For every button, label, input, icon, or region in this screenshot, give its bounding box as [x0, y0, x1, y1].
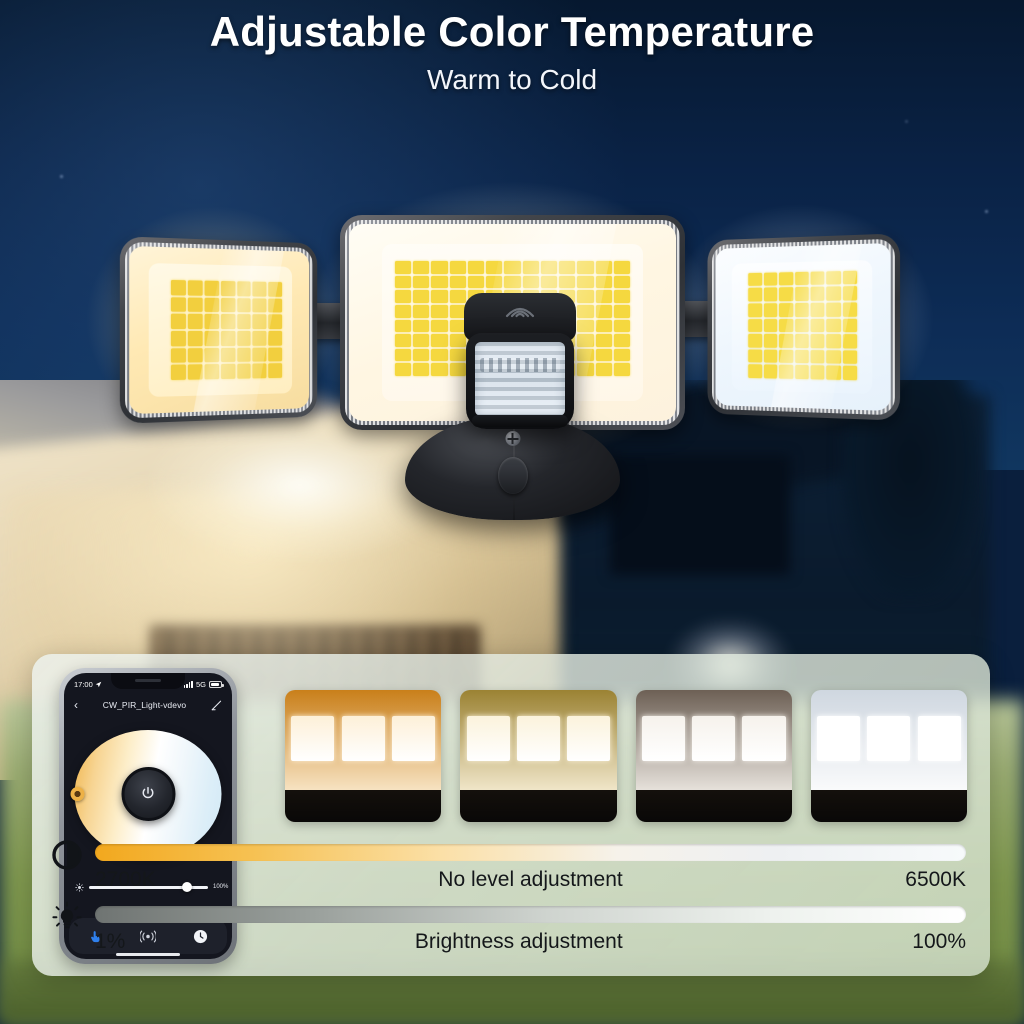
battery-icon [209, 681, 222, 688]
motion-wave-icon [503, 299, 537, 319]
led-chip [749, 364, 762, 378]
led-chip [596, 290, 612, 303]
location-arrow-icon [95, 681, 102, 688]
led-chip [171, 280, 186, 295]
led-chip [431, 334, 447, 347]
swatch-fixture-silhouette [460, 790, 616, 822]
temp-max-label: 6500K [905, 868, 966, 892]
led-chip [577, 349, 593, 362]
led-chip [779, 365, 793, 379]
led-array-left [171, 280, 282, 379]
led-head-left [120, 236, 317, 424]
led-chip [749, 349, 762, 362]
led-chip [811, 303, 825, 317]
led-chip [795, 334, 809, 348]
led-chip [827, 303, 841, 317]
led-chip [764, 365, 778, 379]
led-chip [268, 331, 282, 345]
network-label: 5G [196, 680, 206, 689]
led-chip [171, 297, 186, 312]
led-chip [204, 348, 218, 363]
led-chip [413, 349, 429, 362]
led-chip [237, 315, 251, 329]
led-chip [221, 331, 235, 346]
led-chip [413, 320, 429, 333]
led-array-right [749, 271, 858, 380]
app-demo-panel: 17:00 5G ‹ CW_PIR_Lig [32, 654, 990, 976]
led-chip [413, 276, 429, 289]
color-temperature-labels: 2700K No level adjustment 6500K [95, 866, 966, 894]
led-chip [827, 350, 841, 364]
device-name-title: CW_PIR_Light-vdevo [103, 700, 187, 710]
led-chip [413, 363, 429, 376]
swatch-led-strip [817, 716, 961, 761]
swatch-fixture-silhouette [811, 790, 967, 822]
led-chip [221, 281, 235, 296]
led-chip [811, 365, 825, 379]
led-chip [749, 288, 762, 301]
led-chip [431, 320, 447, 333]
led-chip [596, 334, 612, 347]
led-chip [559, 261, 575, 274]
led-chip [413, 305, 429, 318]
led-chip [749, 334, 762, 347]
led-chip [764, 303, 778, 316]
led-chip [541, 261, 557, 274]
led-chip [827, 318, 841, 332]
head-face [129, 246, 309, 414]
signal-bars-icon [184, 681, 193, 688]
led-chip [253, 363, 267, 378]
led-chip [268, 363, 282, 377]
led-chip [614, 290, 630, 303]
led-chip [268, 299, 282, 313]
led-chip [779, 349, 793, 363]
star [985, 210, 988, 213]
led-chip [614, 305, 630, 318]
led-chip [171, 331, 186, 346]
led-chip [596, 363, 612, 376]
led-chip [614, 320, 630, 333]
led-chip [395, 290, 411, 303]
led-chip [253, 347, 267, 361]
led-chip [188, 348, 203, 363]
housing-button[interactable] [498, 457, 528, 494]
star [60, 175, 63, 178]
back-button[interactable]: ‹ [74, 699, 78, 711]
led-chip [779, 303, 793, 317]
led-head-right [708, 233, 901, 420]
contrast-icon [50, 838, 84, 872]
led-chip [395, 363, 411, 376]
status-time: 17:00 [74, 680, 93, 689]
swatch-thumbnail [811, 690, 967, 822]
head-face [716, 243, 891, 411]
led-chip [268, 282, 282, 296]
led-chip [221, 364, 235, 379]
led-chip [221, 314, 235, 329]
led-chip [843, 302, 857, 316]
led-chip [253, 315, 267, 329]
power-icon [140, 785, 157, 802]
led-chip [811, 350, 825, 364]
led-chip [827, 366, 841, 380]
led-chip [779, 334, 793, 348]
page-subtitle: Warm to Cold [0, 64, 1024, 96]
led-chip [843, 366, 857, 380]
led-chip [764, 319, 778, 332]
led-chip [468, 261, 484, 274]
led-chip [523, 276, 539, 289]
led-chip [413, 290, 429, 303]
led-chip [237, 347, 251, 362]
led-chip [596, 305, 612, 318]
led-chip [843, 350, 857, 364]
led-chip [577, 334, 593, 347]
led-chip [843, 287, 857, 301]
led-chip [614, 349, 630, 362]
led-chip [237, 331, 251, 345]
led-chip [795, 272, 809, 286]
led-chip [764, 288, 778, 302]
app-navbar: ‹ CW_PIR_Light-vdevo [64, 695, 232, 715]
led-chip [577, 363, 593, 376]
led-chip [188, 364, 203, 379]
power-button[interactable] [121, 767, 175, 821]
led-chip [577, 276, 593, 289]
led-chip [577, 305, 593, 318]
led-chip [395, 261, 411, 274]
led-chip [764, 272, 778, 286]
color-temperature-slider-row: 2700K No level adjustment 6500K [50, 836, 972, 898]
led-chip [431, 363, 447, 376]
led-chip [468, 276, 484, 289]
led-chip [504, 276, 520, 289]
swatch-fixture-silhouette [636, 790, 792, 822]
swatch-fixture-silhouette [285, 790, 441, 822]
led-chip [811, 334, 825, 348]
brightness-slider-row: 1% Brightness adjustment 100% [50, 898, 972, 960]
star [905, 120, 908, 123]
led-chip [450, 363, 466, 376]
status-bar: 17:00 5G [64, 677, 232, 691]
led-chip [171, 348, 186, 363]
led-chip [795, 319, 809, 333]
led-chip [450, 334, 466, 347]
led-chip [431, 276, 447, 289]
fixture-housing [405, 415, 620, 520]
led-chip [395, 320, 411, 333]
pir-motion-sensor [466, 333, 574, 429]
swatch-led-strip [642, 716, 786, 761]
led-chip [779, 288, 793, 302]
led-chip [237, 282, 251, 297]
led-chip [779, 319, 793, 333]
led-chip [221, 298, 235, 313]
swatch-thumbnail [285, 690, 441, 822]
led-chip [827, 271, 841, 285]
led-chip [450, 290, 466, 303]
led-chip [596, 261, 612, 274]
led-chip [188, 281, 203, 296]
led-chip [504, 261, 520, 274]
led-chip [843, 318, 857, 332]
led-chip [431, 349, 447, 362]
led-chip [795, 287, 809, 301]
led-chip [431, 261, 447, 274]
swatch-led-strip [291, 716, 435, 761]
led-chip [413, 261, 429, 274]
led-chip [843, 271, 857, 285]
led-chip [204, 314, 218, 329]
led-chip [253, 298, 267, 312]
led-chip [171, 365, 186, 380]
led-chip [395, 276, 411, 289]
led-chip [431, 290, 447, 303]
led-chip [204, 298, 218, 313]
led-chip [596, 349, 612, 362]
led-chip [253, 282, 267, 297]
led-chip [413, 334, 429, 347]
led-chip [450, 276, 466, 289]
led-chip [268, 347, 282, 361]
led-chip [764, 334, 778, 347]
led-chip [486, 261, 502, 274]
led-chip [795, 350, 809, 364]
led-chip [450, 349, 466, 362]
led-chip [486, 276, 502, 289]
led-chip [596, 320, 612, 333]
product-marketing-image: Adjustable Color Temperature Warm to Col… [0, 0, 1024, 1024]
temp-mid-label: No level adjustment [156, 868, 906, 892]
led-chip [450, 261, 466, 274]
color-wheel-handle[interactable] [71, 787, 85, 801]
led-chip [614, 334, 630, 347]
led-chip [237, 298, 251, 313]
color-temperature-track[interactable] [95, 844, 966, 861]
screw-icon [505, 431, 520, 446]
led-chip [188, 314, 203, 329]
led-chip [614, 363, 630, 376]
swatch-thumbnail [460, 690, 616, 822]
led-chip [188, 331, 203, 346]
brightness-min-label: 1% [95, 930, 125, 954]
led-chip [204, 331, 218, 346]
led-chip [764, 349, 778, 363]
page-title: Adjustable Color Temperature [0, 8, 1024, 56]
home-indicator [116, 953, 180, 956]
led-chip [827, 287, 841, 301]
led-chip [614, 276, 630, 289]
led-chip [811, 271, 825, 285]
led-chip [253, 331, 267, 345]
led-chip [523, 261, 539, 274]
led-chip [795, 303, 809, 317]
led-chip [395, 349, 411, 362]
led-chip [268, 315, 282, 329]
led-chip [395, 305, 411, 318]
brightness-max-label: 100% [912, 930, 966, 954]
led-chip [237, 364, 251, 379]
led-chip [811, 287, 825, 301]
swatch-thumbnail [636, 690, 792, 822]
led-chip [171, 314, 186, 329]
led-chip [204, 281, 218, 296]
led-chip [779, 272, 793, 286]
led-chip [577, 320, 593, 333]
color-temperature-samples [285, 690, 967, 822]
bulb-icon [50, 900, 84, 934]
led-chip [541, 276, 557, 289]
led-chip [749, 303, 762, 316]
led-chip [221, 347, 235, 362]
brightness-labels: 1% Brightness adjustment 100% [95, 928, 966, 956]
led-chip [811, 318, 825, 332]
led-chip [188, 297, 203, 312]
led-chip [749, 273, 762, 287]
led-chip [395, 334, 411, 347]
swatch-led-strip [467, 716, 611, 761]
pir-base [472, 415, 568, 427]
temp-min-label: 2700K [95, 868, 156, 892]
brightness-track[interactable] [95, 906, 966, 923]
led-flood-light-product [110, 215, 930, 615]
led-chip [827, 334, 841, 348]
led-chip [577, 261, 593, 274]
led-chip [749, 319, 762, 332]
led-chip [431, 305, 447, 318]
led-chip [559, 276, 575, 289]
led-chip [843, 334, 857, 348]
led-chip [795, 365, 809, 379]
edit-pencil-icon[interactable] [211, 700, 222, 711]
led-chip [596, 276, 612, 289]
led-chip [204, 364, 218, 379]
led-chip [614, 261, 630, 274]
pir-fresnel-lens [475, 342, 565, 416]
led-chip [577, 290, 593, 303]
brightness-mid-label: Brightness adjustment [125, 930, 912, 954]
